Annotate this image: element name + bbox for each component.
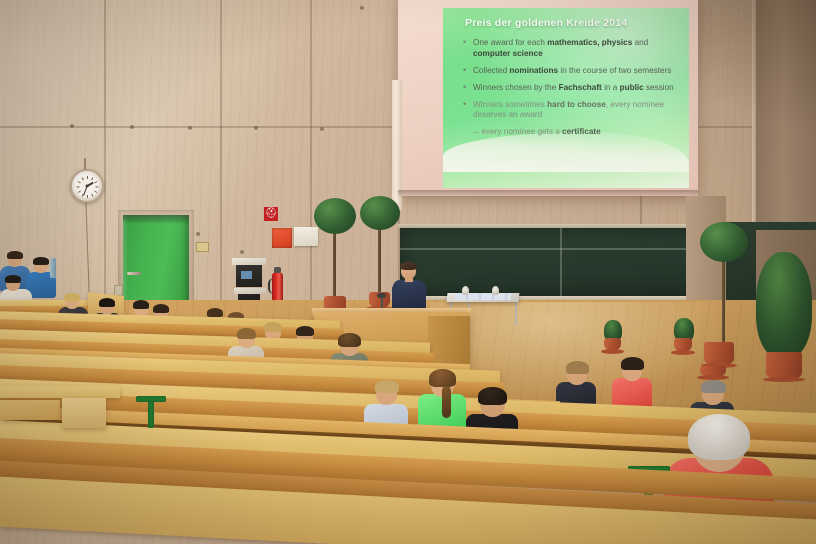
clock-face [75, 174, 99, 198]
slide-title: Preis der goldenen Kreide 2014 [465, 17, 679, 29]
plant-trunk [378, 228, 381, 296]
blackboard-seam [400, 248, 716, 250]
person-hair [5, 275, 21, 283]
bench-side-panel [0, 400, 60, 420]
topiary-ball [360, 196, 400, 230]
form-tie-hole [240, 250, 244, 254]
person-hair [237, 328, 256, 339]
person-hair [153, 304, 169, 313]
person-hair [429, 369, 456, 387]
clock-center-pin [86, 185, 89, 188]
plant-pot [604, 338, 621, 350]
fire-hose-sign: ⛑ [264, 207, 278, 221]
fire-sign-glyph: ⛑ [265, 209, 278, 219]
form-tie-hole [360, 6, 364, 10]
extinguisher-hose [268, 278, 275, 294]
person-hair [99, 298, 115, 307]
slide-bullet-list: One award for each mathematics, physics … [461, 38, 681, 138]
person-hair [33, 257, 49, 265]
trolley-shelf [232, 258, 266, 265]
bench-bracket [136, 396, 166, 402]
fire-hose-box[interactable] [272, 228, 292, 248]
water-bottle [50, 258, 56, 278]
braid [442, 386, 451, 418]
microphone [377, 293, 386, 298]
presenter-hair [400, 262, 417, 270]
form-tie-hole [254, 126, 258, 130]
trophy [492, 286, 499, 295]
plant-pot [704, 342, 734, 364]
form-tie-hole [196, 232, 200, 236]
wall-seam [310, 0, 312, 300]
screen-bottom-shadow [398, 190, 698, 198]
wall-cabinet[interactable] [294, 227, 318, 246]
person-hair [133, 300, 149, 309]
slide-bullet-3: Winners chosen by the Fachschaft in a pu… [461, 83, 681, 94]
plant-pot [766, 352, 802, 378]
blackboard-seam [560, 228, 562, 298]
person-hair [688, 414, 750, 460]
plant-trunk [333, 230, 336, 302]
trophy [462, 286, 469, 295]
door-handle[interactable] [127, 272, 141, 275]
plant-trunk [722, 250, 725, 346]
bench-bracket [148, 398, 154, 428]
person-hair [207, 308, 223, 317]
bench-desk-top [0, 386, 120, 398]
wall-seam [104, 0, 106, 300]
topiary-ball [700, 222, 748, 262]
topiary-ball [314, 198, 356, 234]
person-hair [375, 380, 399, 393]
form-tie-hole [320, 127, 324, 131]
person-hair [621, 357, 644, 370]
trolley-screen [241, 271, 252, 279]
plant-pot [674, 338, 692, 351]
form-tie-hole [188, 126, 192, 130]
slide-bullet-4: Winners sometimes hard to choose, every … [461, 100, 681, 121]
person-hair [296, 326, 314, 336]
person-hair [7, 251, 23, 259]
blackboard [400, 228, 716, 298]
table-leg [515, 300, 517, 326]
wall-clock [70, 169, 104, 203]
conical-shrub [756, 252, 812, 358]
slide-bullet-1: One award for each mathematics, physics … [461, 38, 681, 59]
door-sign [196, 242, 209, 252]
person-hair [566, 361, 589, 374]
person-hair [478, 387, 507, 405]
slide-bullet-2: Collected nominations in the course of t… [461, 66, 681, 77]
form-tie-hole [130, 125, 134, 129]
lecture-hall-photo: ⛑ Preis der goldenen Kreide 2014 One awa… [0, 0, 816, 544]
door-shadow [123, 215, 189, 224]
person-hair [64, 293, 80, 301]
wall-seam [220, 0, 222, 300]
slide-conclusion: → every nominee gets a certificate [471, 127, 681, 138]
person-hair [338, 333, 361, 347]
lectern-side [428, 316, 470, 370]
form-tie-hole [70, 124, 74, 128]
slide-decoration [443, 132, 689, 172]
person-hair [701, 380, 726, 393]
person-hair [264, 322, 282, 332]
bench-side-panel [62, 398, 106, 428]
presentation-slide: Preis der goldenen Kreide 2014 One award… [443, 8, 689, 188]
plant-pot [700, 366, 726, 376]
